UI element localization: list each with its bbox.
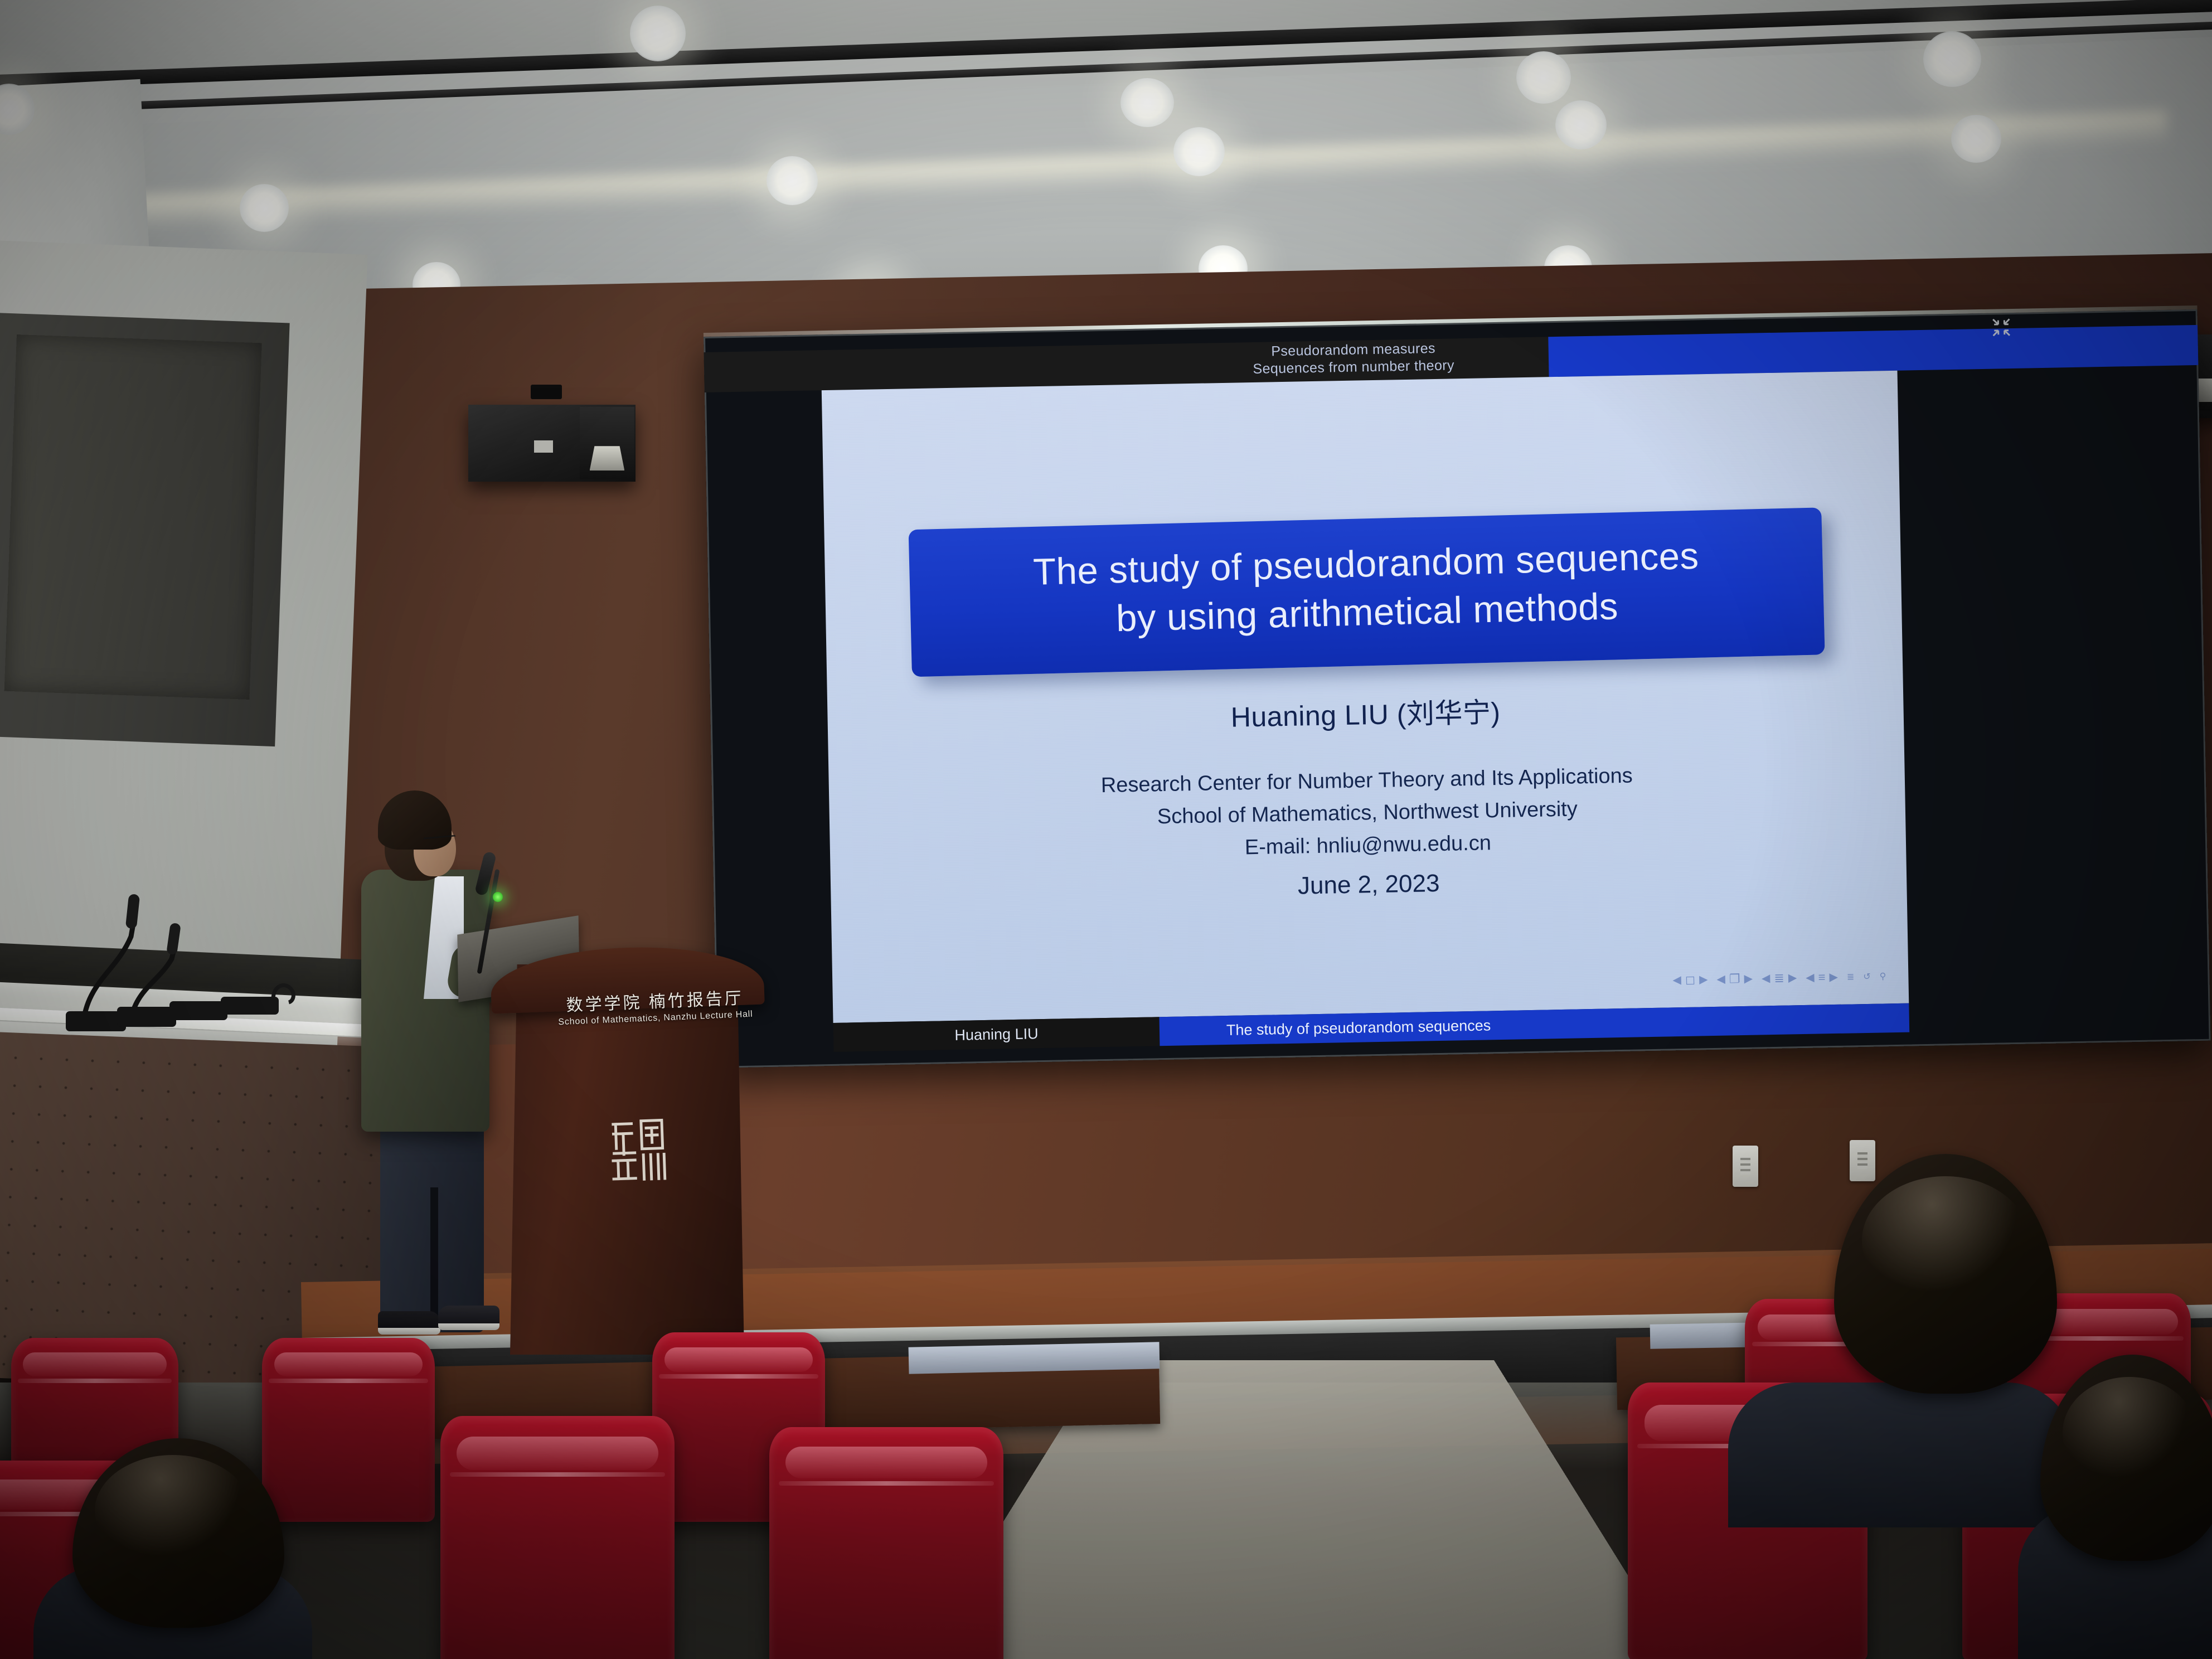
audience-seat [769,1427,1003,1659]
frame-nav[interactable]: ◀ ❐ ▶ [1716,973,1753,986]
frame-next-arrow-icon[interactable]: ▶ [1744,973,1753,984]
shoe-sole [378,1328,440,1335]
back-icon[interactable]: ↺ [1863,971,1871,982]
gooseneck-microphones [33,870,334,1037]
appendix-icon[interactable]: ≣ [1847,971,1855,982]
ceiling-downlight [630,6,686,61]
section-nav[interactable]: ◀ ≡ ▶ [1806,971,1838,984]
frame-prev-arrow-icon[interactable]: ◀ [1716,974,1725,985]
ceiling-downlight [1555,100,1607,149]
section-next-arrow-icon[interactable]: ▶ [1829,972,1838,983]
frame-icon[interactable]: ❐ [1729,973,1740,985]
subsection-next-arrow-icon[interactable]: ▶ [1788,972,1797,983]
projection-screen: Pseudorandom measures Sequences from num… [704,309,2211,1068]
beamer-navigation-header: Pseudorandom measures Sequences from num… [1161,338,1546,379]
ceiling-downlight [1120,78,1174,127]
beamer-headline-blue [1548,325,2198,377]
presenter-jacket [361,870,489,1132]
subsection-prev-arrow-icon[interactable]: ◀ [1762,973,1770,984]
audience-desk-surface [909,1342,1160,1374]
audience-seat [440,1416,675,1659]
slide-author: Huaning LIU (刘华宁) [827,683,1904,743]
collapse-arrows-icon[interactable] [1989,315,2014,340]
presenter-shoe-right [438,1306,499,1330]
slide-next-arrow-icon[interactable]: ▶ [1699,974,1708,985]
subsection-nav[interactable]: ◀ ≣ ▶ [1762,972,1797,984]
slide-affiliation: Research Center for Number Theory and It… [828,755,1906,872]
section-prev-arrow-icon[interactable]: ◀ [1806,972,1815,983]
ceiling-downlight [767,156,818,205]
section-icon[interactable]: ≡ [1818,971,1825,983]
ceiling-downlight [1516,51,1571,104]
beamer-navigation-symbols[interactable]: ◀ ◻ ▶ ◀ ❐ ▶ ◀ ≣ ▶ ◀ ≡ ▶ [1672,970,1886,986]
left-wall-panel [4,334,262,700]
ceiling-downlight [240,184,289,232]
wall-outlet [1850,1140,1875,1181]
find-icon[interactable]: ⚲ [1879,971,1886,982]
footline-author-cell: Huaning LIU [833,1017,1160,1052]
audience-hair-highlight [1862,1176,2029,1304]
shoe-sole [438,1323,499,1330]
slide-prev-arrow-icon[interactable]: ◀ [1672,974,1681,986]
slide-title-box: The study of pseudorandom sequences by u… [909,507,1825,677]
audience-hair-highlight [95,1455,251,1566]
slide-canvas: The study of pseudorandom sequences by u… [822,371,1909,1023]
ceiling-downlight [1923,31,1981,87]
university-seal-emblem [607,1114,670,1183]
speaker-badge [534,440,553,453]
lecture-hall-photo: Pseudorandom measures Sequences from num… [0,0,2212,1659]
ceiling-downlight [1173,127,1225,176]
audience-seat [262,1338,435,1522]
footline-author: Huaning LIU [954,1025,1039,1044]
wall-speaker-left-horn [580,407,634,479]
ceiling-downlight [1951,115,2001,163]
audience-hair-highlight [2063,1377,2196,1488]
slide-icon[interactable]: ◻ [1685,974,1696,986]
speaker-bracket [531,385,562,399]
microphone-active-led [493,892,503,902]
presenter-shoe-left [378,1311,440,1335]
audience-shoulders [1728,1382,2074,1527]
wall-outlet [1733,1146,1758,1187]
slide-nav[interactable]: ◀ ◻ ▶ [1672,973,1707,986]
subsection-icon[interactable]: ≣ [1774,972,1784,984]
footline-title: The study of pseudorandom sequences [1226,1017,1491,1039]
